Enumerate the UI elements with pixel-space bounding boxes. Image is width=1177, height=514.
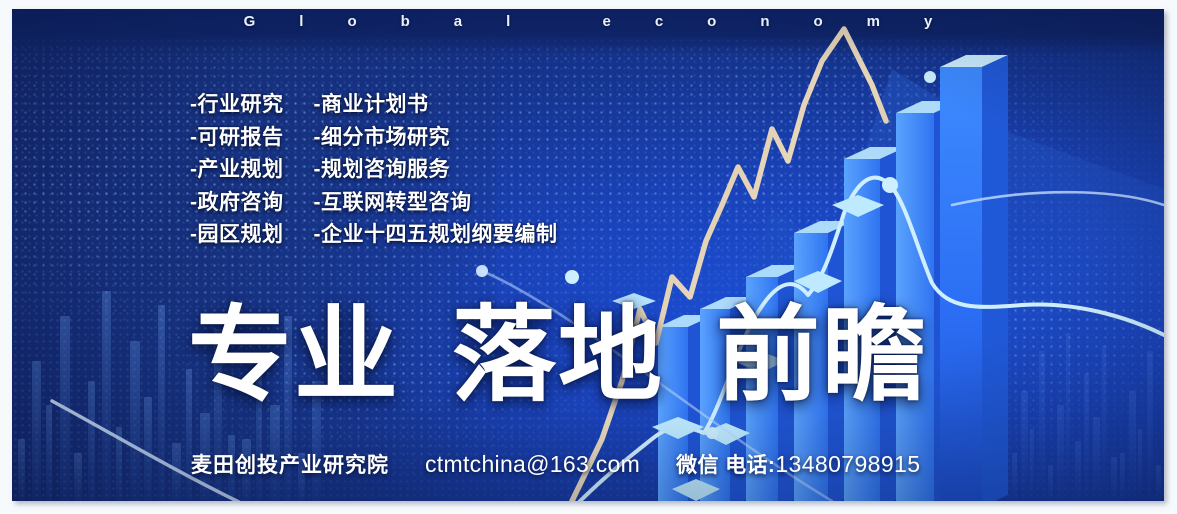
- background-vignette: [12, 9, 1164, 501]
- service-item: -企业十四五规划纲要编制: [314, 223, 558, 247]
- service-item: -园区规划: [190, 223, 284, 247]
- service-item: -产业规划: [190, 158, 284, 182]
- phone-number[interactable]: 13480798915: [775, 451, 920, 477]
- organization-name: 麦田创投产业研究院: [191, 449, 389, 479]
- service-item: -细分市场研究: [314, 126, 558, 150]
- promo-banner: Global economy -行业研究 -可研报告 -产业规划 -政府咨询 -…: [12, 9, 1164, 501]
- service-item: -商业计划书: [314, 93, 558, 117]
- service-item: -互联网转型咨询: [314, 191, 558, 215]
- banner-root: Global economy -行业研究 -可研报告 -产业规划 -政府咨询 -…: [0, 0, 1177, 514]
- service-item: -规划咨询服务: [314, 158, 558, 182]
- email-address[interactable]: ctmtchina@163.com: [425, 451, 640, 478]
- services-lists: -行业研究 -可研报告 -产业规划 -政府咨询 -园区规划 -商业计划书 -细分…: [190, 93, 558, 247]
- services-right-column: -商业计划书 -细分市场研究 -规划咨询服务 -互联网转型咨询 -企业十四五规划…: [314, 93, 558, 247]
- service-item: -政府咨询: [190, 191, 284, 215]
- phone-contact: 微信 电话:13480798915: [676, 449, 920, 479]
- footer-contact-bar: 麦田创投产业研究院 ctmtchina@163.com 微信 电话:134807…: [191, 449, 920, 479]
- services-left-column: -行业研究 -可研报告 -产业规划 -政府咨询 -园区规划: [190, 93, 284, 247]
- service-item: -可研报告: [190, 126, 284, 150]
- contact-label: 微信 电话:: [676, 454, 775, 477]
- service-item: -行业研究: [190, 93, 284, 117]
- kicker-text: Global economy: [12, 13, 1164, 30]
